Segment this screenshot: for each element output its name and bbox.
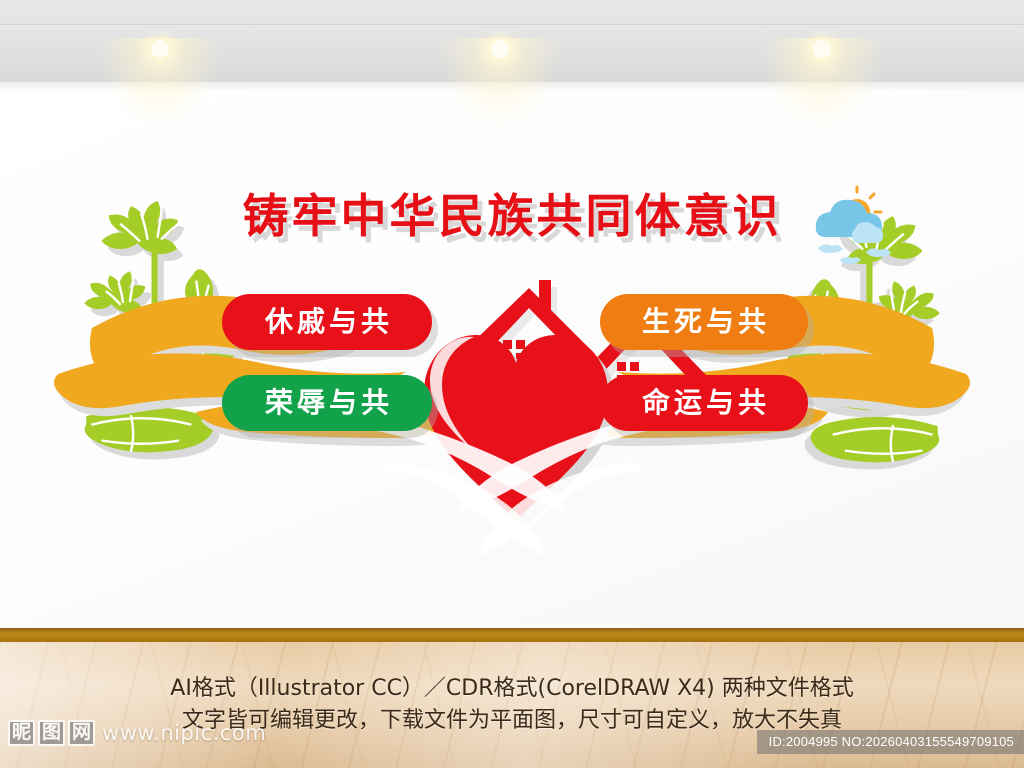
watermark-url: www.nipic.com xyxy=(102,721,266,745)
pill-label-shengsi-yugong: 生死与共 xyxy=(638,308,770,336)
ceiling-spotlight-center xyxy=(491,40,509,58)
site-watermark: 昵 图 网 www.nipic.com xyxy=(8,720,266,746)
ceiling-spotlight-right xyxy=(813,40,831,58)
pill-xiuqi-yugong[interactable]: 休戚与共 xyxy=(222,294,432,350)
pill-rongru-yugong[interactable]: 荣辱与共 xyxy=(222,375,432,431)
floor-baseboard xyxy=(0,628,1024,642)
ceiling-spotlight-left xyxy=(151,40,169,58)
pill-label-rongru-yugong: 荣辱与共 xyxy=(261,389,393,417)
image-id-badge: ID:2004995 NO:20260403155549709105 xyxy=(757,730,1024,754)
watermark-logo: 昵 图 网 xyxy=(8,720,95,746)
main-title: 铸牢中华民族共同体意识 xyxy=(243,193,782,239)
pill-label-mingyun-yugong: 命运与共 xyxy=(638,389,770,417)
caption-line-1: AI格式（Illustrator CC）／CDR格式(CorelDRAW X4)… xyxy=(0,670,1024,702)
wall-artwork xyxy=(0,82,1024,630)
watermark-logo-char-2: 图 xyxy=(38,720,65,746)
ceiling-slab xyxy=(0,0,1024,24)
watermark-logo-char-1: 昵 xyxy=(8,720,35,746)
scene-root: 铸牢中华民族共同体意识 休戚与共 生死与共 荣辱与共 命运与共 AI格式（Ill… xyxy=(0,0,1024,768)
pill-shengsi-yugong[interactable]: 生死与共 xyxy=(600,294,808,350)
title-block: 铸牢中华民族共同体意识 xyxy=(0,193,1024,239)
pill-label-xiuqi-yugong: 休戚与共 xyxy=(261,308,393,336)
pill-mingyun-yugong[interactable]: 命运与共 xyxy=(600,375,808,431)
watermark-logo-char-3: 网 xyxy=(68,720,95,746)
